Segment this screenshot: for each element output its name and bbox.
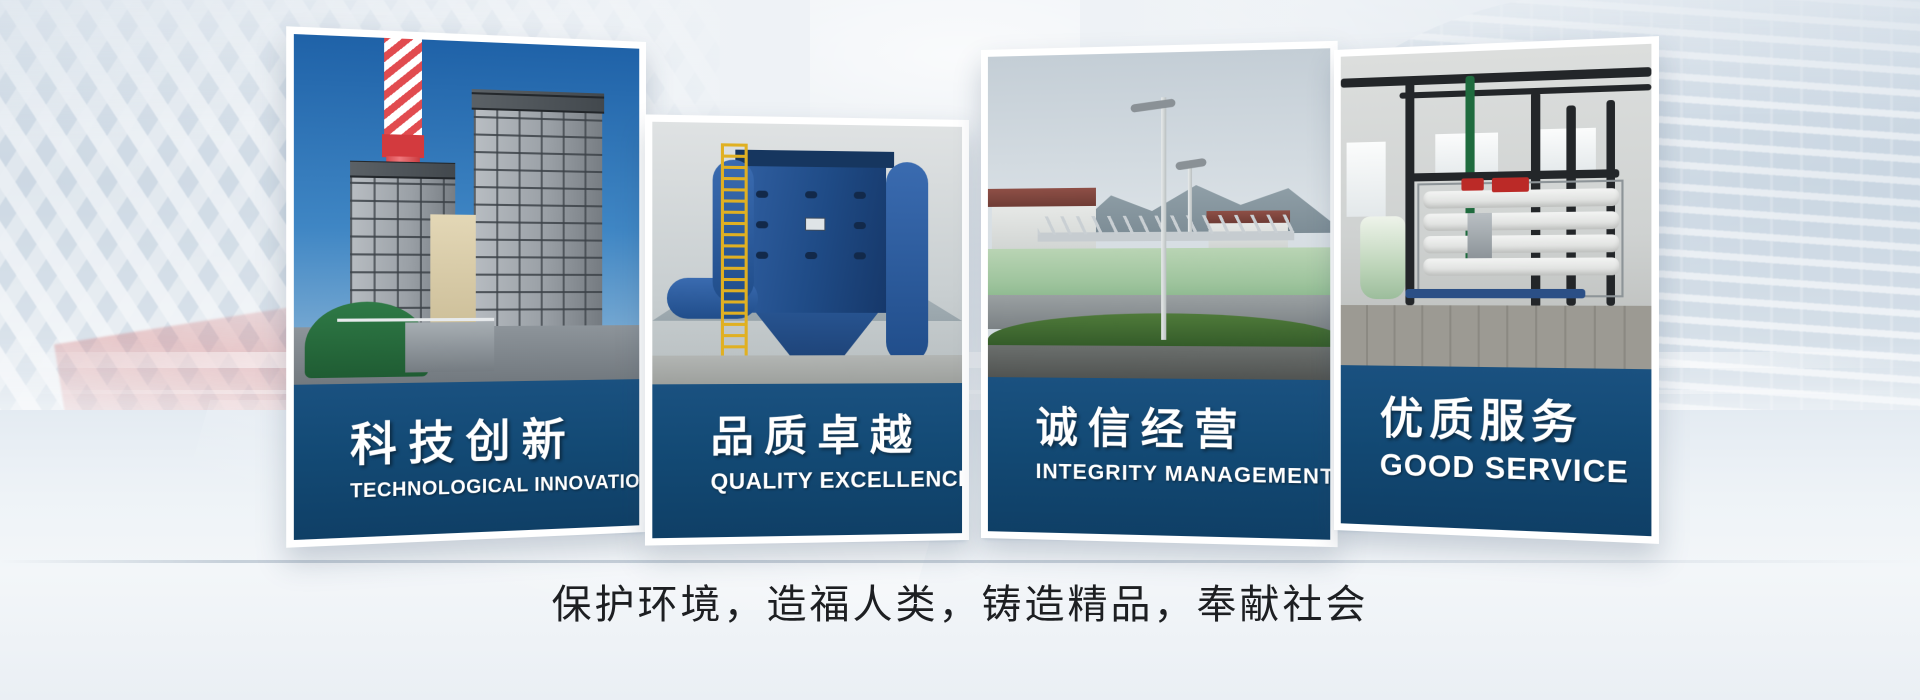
- banner-tagline: 保护环境，造福人类，铸造精品，奉献社会: [0, 572, 1920, 630]
- pulse-valve: [854, 192, 866, 199]
- vertical-pipe: [1405, 82, 1414, 305]
- tower-roof-right: [472, 89, 604, 114]
- panel-integrity-management[interactable]: 诚信经营 INTEGRITY MANAGEMENT: [981, 41, 1338, 547]
- panel-title-en: INTEGRITY MANAGEMENT: [1036, 460, 1331, 490]
- control-panel: [1468, 213, 1492, 258]
- chimney-red-band: [382, 134, 424, 158]
- panel-title-en: GOOD SERVICE: [1380, 448, 1652, 492]
- pulse-valve: [854, 252, 866, 259]
- panel-title-cn: 优质服务: [1380, 382, 1652, 454]
- pulse-valve: [756, 191, 768, 198]
- pulse-valve: [756, 252, 768, 259]
- panel-technological-innovation[interactable]: 科技创新 TECHNOLOGICAL INNOVATION: [286, 26, 646, 547]
- access-ladder: [721, 143, 748, 359]
- panel-title-cn: 诚信经营: [1036, 394, 1331, 460]
- warning-sign: [1492, 177, 1529, 192]
- equipment-cabinet: [405, 322, 494, 373]
- panel-caption-bar: 科技创新 TECHNOLOGICAL INNOVATION: [294, 379, 639, 540]
- chimney-pattern-top: [384, 34, 422, 135]
- filter-housing: [744, 160, 886, 313]
- skid-frame: [1417, 180, 1623, 298]
- company-values-banner: 科技创新 TECHNOLOGICAL INNOVATION: [0, 0, 1920, 700]
- blue-pipe: [1405, 289, 1585, 298]
- panel-quality-excellence[interactable]: 品质卓越 QUALITY EXCELLENCE: [645, 114, 969, 545]
- panel-title-cn: 品质卓越: [711, 401, 963, 465]
- panel-title-en: TECHNOLOGICAL INNOVATION: [350, 471, 639, 504]
- panel-good-service[interactable]: 优质服务 GOOD SERVICE: [1334, 36, 1659, 544]
- panel-caption-bar: 诚信经营 INTEGRITY MANAGEMENT: [988, 377, 1330, 540]
- panel-caption-bar: 优质服务 GOOD SERVICE: [1341, 365, 1652, 536]
- walkway: [988, 345, 1330, 380]
- street-lamp-pole-2: [1188, 160, 1192, 232]
- street-lamp-pole: [1161, 97, 1166, 340]
- panel-title-en: QUALITY EXCELLENCE: [711, 466, 963, 495]
- tower-roof-left: [350, 161, 455, 180]
- pulse-valve: [854, 222, 866, 229]
- reverse-osmosis-room-photo: [1341, 44, 1652, 369]
- panel-title-cn: 科技创新: [350, 401, 639, 474]
- pulse-valve: [805, 191, 817, 198]
- outlet-duct-right: [886, 162, 928, 363]
- control-box: [805, 218, 825, 231]
- wastewater-clarifier-photo: [988, 48, 1330, 380]
- chemical-dosing-tank: [1360, 216, 1405, 299]
- desulfurization-tower-photo: [294, 34, 639, 385]
- warning-sign: [1461, 178, 1483, 191]
- window: [1347, 142, 1386, 217]
- pulse-valve: [756, 221, 768, 228]
- panel-caption-bar: 品质卓越 QUALITY EXCELLENCE: [652, 383, 962, 538]
- baghouse-dust-collector-photo: [652, 122, 962, 399]
- tiled-floor: [1341, 305, 1652, 369]
- pulse-valve: [805, 252, 817, 259]
- building-roof: [988, 188, 1096, 207]
- filter-housing-top: [735, 150, 894, 168]
